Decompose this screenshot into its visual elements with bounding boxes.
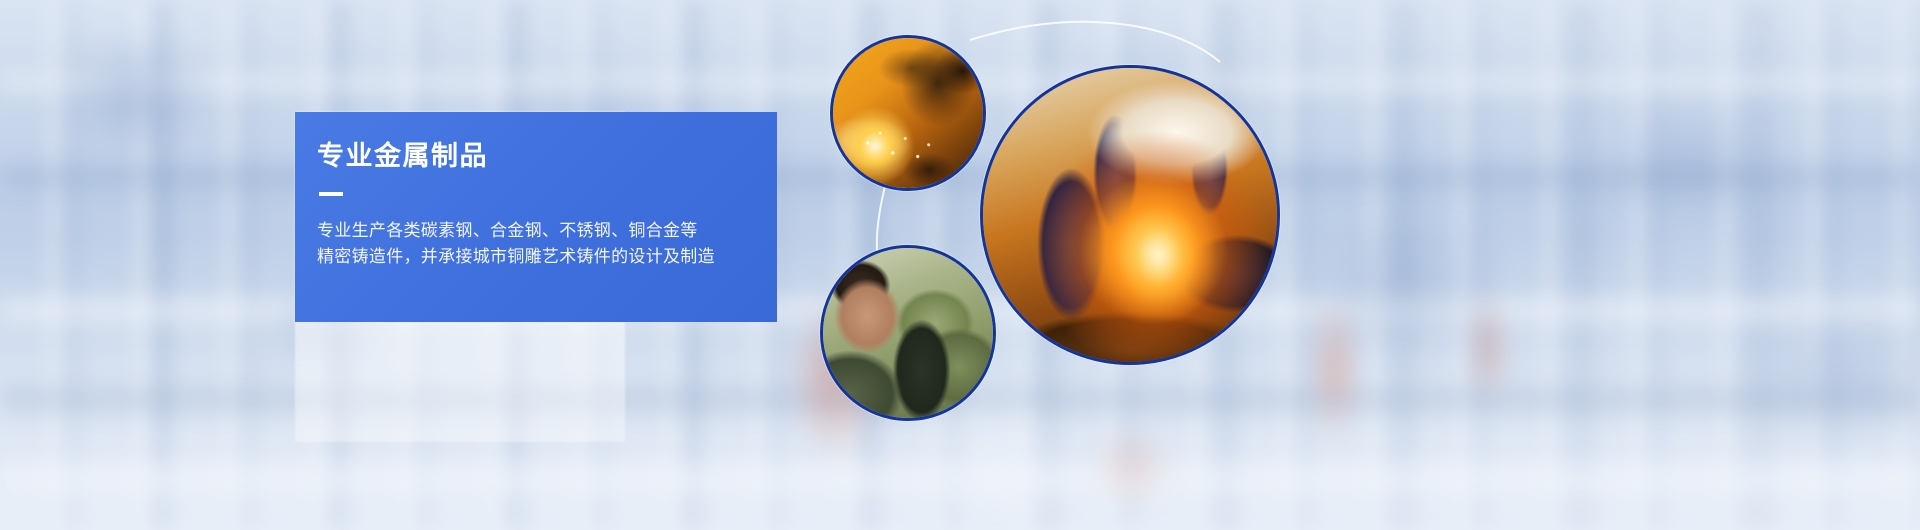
worker-assembly-image — [823, 248, 993, 418]
title-divider — [319, 192, 343, 196]
worker-assembly-photo — [820, 245, 996, 421]
spark-particles — [860, 125, 938, 170]
molten-metal-glow — [1106, 191, 1212, 320]
promo-panel: 专业金属制品 专业生产各类碳素钢、合金钢、不锈钢、铜合金等 精密铸造件，并承接城… — [295, 112, 777, 322]
promo-description: 专业生产各类碳素钢、合金钢、不锈钢、铜合金等 精密铸造件，并承接城市铜雕艺术铸件… — [317, 218, 777, 271]
foundry-pour-photo — [980, 65, 1280, 365]
hero-banner: 专业金属制品 专业生产各类碳素钢、合金钢、不锈钢、铜合金等 精密铸造件，并承接城… — [0, 0, 1920, 530]
welding-sparks-photo — [830, 35, 986, 191]
photo-collage — [820, 0, 1460, 430]
promo-panel-content: 专业金属制品 专业生产各类碳素钢、合金钢、不锈钢、铜合金等 精密铸造件，并承接城… — [295, 112, 777, 270]
page-title: 专业金属制品 — [317, 142, 777, 172]
